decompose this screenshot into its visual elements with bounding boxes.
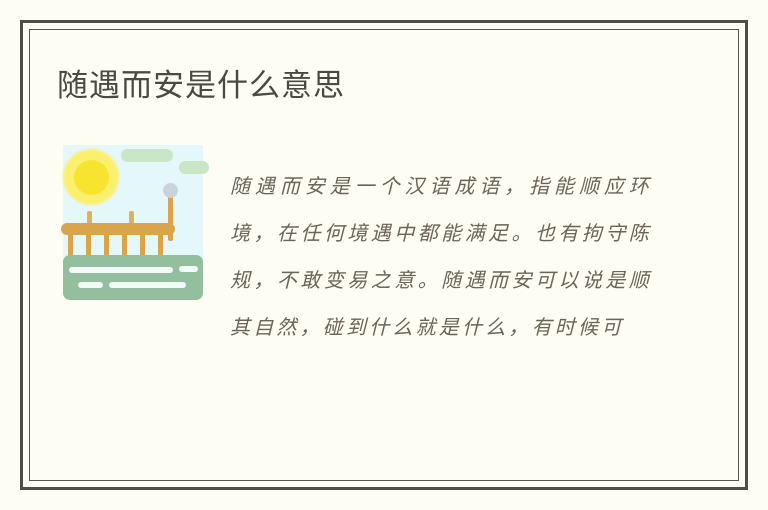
cloud-left-icon [121, 149, 173, 162]
water-wave [179, 266, 198, 272]
document-page: 随遇而安是什么意思 随遇而安是一个汉语成语，指能顺应环境，在任何境 [0, 0, 768, 510]
water-wave [69, 267, 173, 273]
seaside-pier-illustration [57, 145, 209, 306]
water-wave [78, 282, 103, 288]
article-body-text: 随遇而安是一个汉语成语，指能顺应环境，在任何境遇中都能满足。也有拘守陈规，不敢变… [230, 163, 652, 351]
cloud-right-icon [179, 161, 209, 174]
page-title: 随遇而安是什么意思 [57, 66, 345, 106]
sun-icon [74, 160, 109, 195]
lamp-head-icon [163, 183, 178, 198]
water-wave [109, 282, 186, 288]
water-surface [63, 255, 203, 300]
